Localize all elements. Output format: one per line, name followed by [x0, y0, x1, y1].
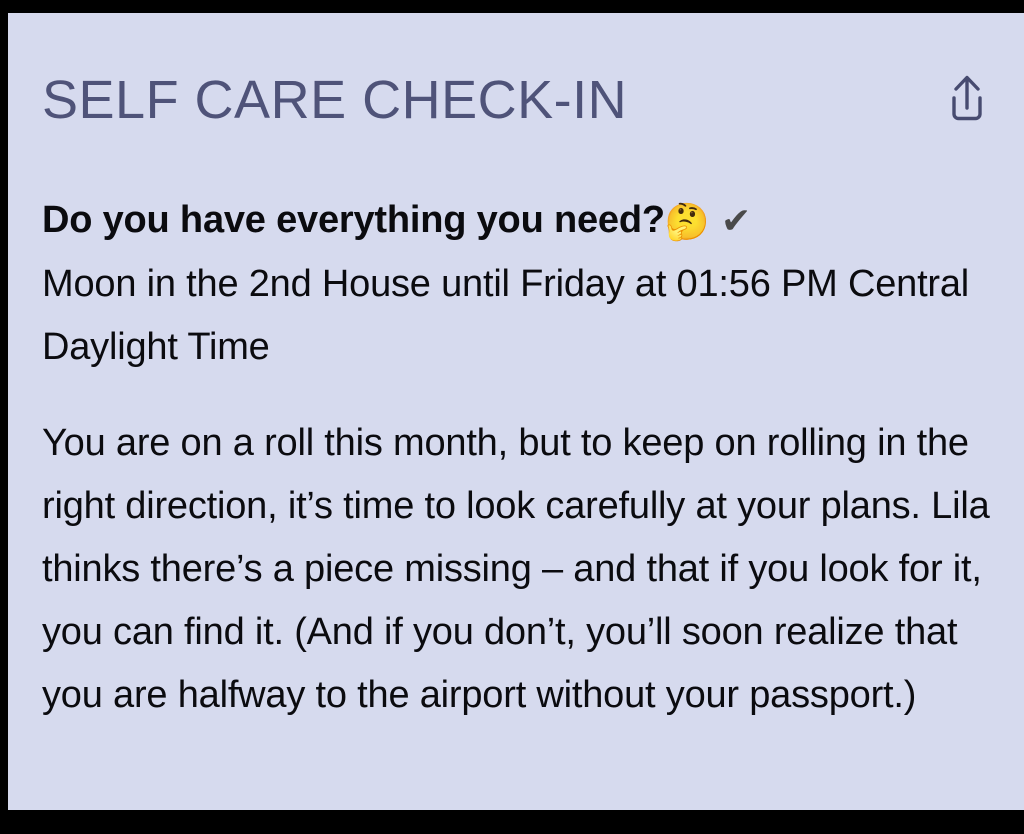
self-care-card: SELF CARE CHECK-IN Do you have everythin…: [8, 13, 1024, 810]
transit-summary: Do you have everything you need?🤔 ✔ Moon…: [42, 189, 994, 379]
screenshot-root: SELF CARE CHECK-IN Do you have everythin…: [0, 0, 1024, 834]
page-title: SELF CARE CHECK-IN: [42, 73, 627, 127]
reading-question: Do you have everything you need?: [42, 199, 665, 241]
letterbox-bar-top: [0, 0, 1024, 13]
card-header: SELF CARE CHECK-IN: [8, 55, 1024, 145]
reading-body: You are on a roll this month, but to kee…: [42, 412, 994, 727]
check-mark-icon: ✔: [721, 200, 751, 241]
letterbox-bar-bottom: [0, 810, 1024, 834]
share-upload-icon: [943, 72, 991, 128]
letterbox-bar-left: [0, 13, 8, 810]
thinking-face-icon: 🤔: [665, 201, 711, 242]
share-button[interactable]: [936, 64, 998, 136]
transit-line-1: Moon in the 2nd House until Friday at 01…: [42, 263, 838, 305]
reading-content: Do you have everything you need?🤔 ✔ Moon…: [42, 189, 994, 727]
